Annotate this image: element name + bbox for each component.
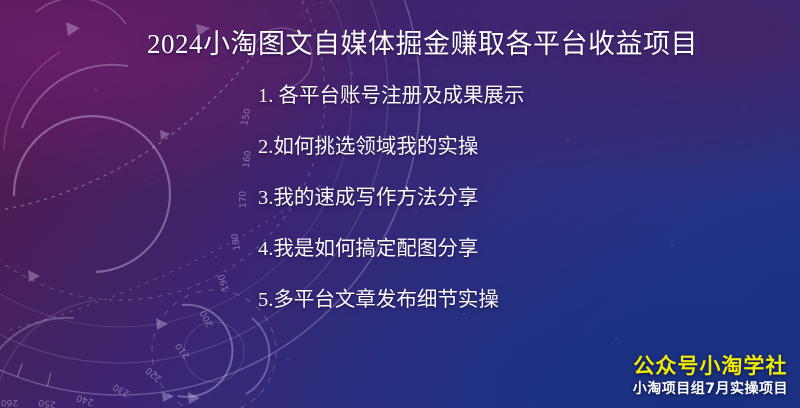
dial-tick-150: 150 xyxy=(240,107,253,126)
list-item: 3.我的速成写作方法分享 xyxy=(258,188,525,209)
brand-subtitle: 小淘项目组7月实操项目 xyxy=(633,381,788,398)
list-item: 4.我是如何搞定配图分享 xyxy=(258,239,525,260)
dial-tick-170: 170 xyxy=(238,190,249,208)
dial-tick-230: 230 xyxy=(111,381,131,398)
slide-title: 2024小淘图文自媒体掘金赚取各平台收益项目 xyxy=(147,22,698,61)
dial-tick-210: 210 xyxy=(174,340,193,360)
presentation-slide: 150 160 170 180 190 200 210 220 230 240 … xyxy=(0,0,800,408)
dial-tick-260: 260 xyxy=(1,397,18,407)
dial-tick-240: 240 xyxy=(75,392,95,407)
list-item: 1. 各平台账号注册及成果展示 xyxy=(258,86,525,107)
list-item: 5.多平台文章发布细节实操 xyxy=(258,290,525,311)
list-item: 2.如何挑选领域我的实操 xyxy=(258,137,525,158)
dial-tick-200: 200 xyxy=(199,308,216,328)
dial-tick-220: 220 xyxy=(144,364,164,383)
agenda-list: 1. 各平台账号注册及成果展示 2.如何挑选领域我的实操 3.我的速成写作方法分… xyxy=(258,86,525,311)
footer-branding: 公众号小淘学社 小淘项目组7月实操项目 xyxy=(633,355,788,398)
dial-tick-250: 250 xyxy=(38,397,57,408)
dial-tick-180: 180 xyxy=(230,232,243,251)
brand-name: 公众号小淘学社 xyxy=(633,355,788,378)
dial-tick-160: 160 xyxy=(242,150,254,168)
dial-tick-190: 190 xyxy=(217,272,232,292)
